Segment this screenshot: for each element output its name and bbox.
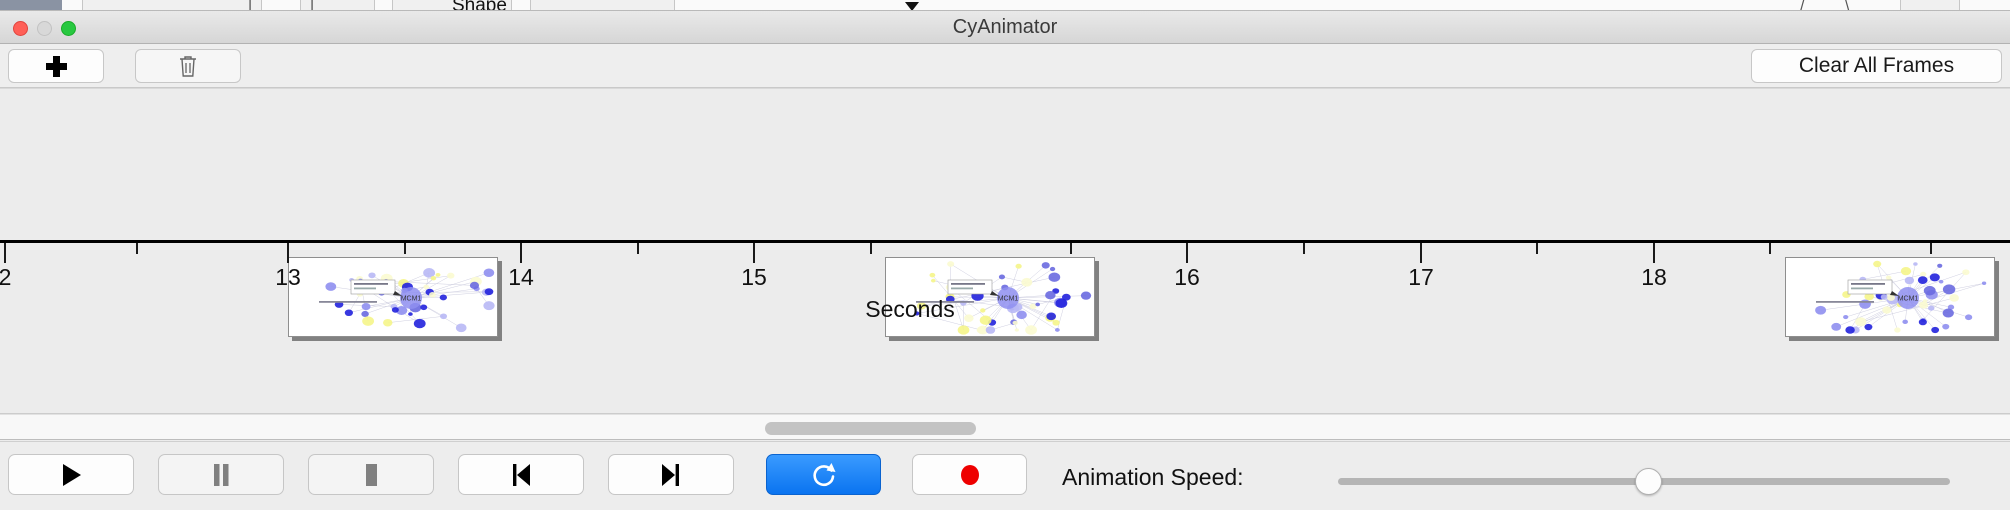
ruler-tick-major bbox=[287, 243, 289, 263]
timeline-panel[interactable]: MCM1MCM1MCM1 2131415161718 Seconds bbox=[0, 88, 2010, 414]
ruler-tick-minor bbox=[1536, 243, 1538, 254]
stop-icon bbox=[360, 462, 382, 488]
animation-speed-slider-thumb[interactable] bbox=[1635, 468, 1662, 495]
axis-title: Seconds bbox=[0, 296, 1820, 323]
play-button[interactable] bbox=[8, 454, 134, 495]
ruler-tick-minor bbox=[637, 243, 639, 254]
background-sidebar-sliver bbox=[0, 0, 62, 11]
background-toolbar-segment bbox=[530, 0, 675, 11]
add-frame-button[interactable] bbox=[8, 49, 104, 83]
plus-icon bbox=[46, 56, 67, 77]
skip-forward-icon bbox=[659, 462, 683, 488]
background-window-label: Shape bbox=[452, 0, 507, 11]
panel-divider bbox=[0, 88, 2010, 89]
ruler-tick-label: 18 bbox=[1641, 264, 1667, 291]
prev-frame-button[interactable] bbox=[458, 454, 584, 495]
svg-text:MCM1: MCM1 bbox=[1898, 296, 1919, 303]
timeline-scrollbar[interactable] bbox=[0, 414, 2010, 440]
next-frame-button[interactable] bbox=[608, 454, 734, 495]
loop-button[interactable] bbox=[766, 454, 881, 495]
ruler-tick-major bbox=[1420, 243, 1422, 263]
timeline-ruler-line bbox=[0, 240, 2010, 243]
record-icon bbox=[958, 462, 982, 488]
ruler-tick-major bbox=[4, 243, 6, 263]
ruler-tick-label: 16 bbox=[1174, 264, 1200, 291]
ruler-tick-major bbox=[1653, 243, 1655, 263]
ruler-tick-label: 14 bbox=[508, 264, 534, 291]
ruler-tick-label: 15 bbox=[741, 264, 767, 291]
ruler-tick-minor bbox=[136, 243, 138, 254]
transport-bar: Animation Speed: bbox=[0, 441, 2010, 510]
animation-speed-label: Animation Speed: bbox=[1062, 464, 1244, 491]
ruler-tick-minor bbox=[870, 243, 872, 254]
ruler-tick-label: 13 bbox=[275, 264, 301, 291]
background-toolbar-segment bbox=[1900, 0, 1960, 11]
record-button[interactable] bbox=[912, 454, 1027, 495]
trash-icon bbox=[178, 54, 198, 78]
ruler-tick-label: 17 bbox=[1408, 264, 1434, 291]
pause-button[interactable] bbox=[158, 454, 284, 495]
timeline-scrollbar-thumb[interactable] bbox=[765, 422, 976, 435]
loop-icon bbox=[811, 461, 837, 489]
clear-all-frames-button[interactable]: Clear All Frames bbox=[1751, 49, 2002, 83]
title-bar[interactable]: CyAnimator bbox=[0, 11, 2010, 44]
ruler-tick-major bbox=[1186, 243, 1188, 263]
ruler-tick-minor bbox=[1303, 243, 1305, 254]
window-title: CyAnimator bbox=[0, 11, 2010, 44]
background-toolbar-segment bbox=[82, 0, 262, 11]
pause-icon bbox=[210, 462, 232, 488]
ruler-tick-major bbox=[753, 243, 755, 263]
background-cursor-icon bbox=[905, 2, 919, 11]
ruler-tick-label: 2 bbox=[0, 264, 11, 291]
ruler-tick-minor bbox=[1070, 243, 1072, 254]
ruler-tick-major bbox=[520, 243, 522, 263]
background-window-strip: | | Shape / \ bbox=[0, 0, 2010, 11]
delete-frame-button[interactable] bbox=[135, 49, 241, 83]
toolbar: Clear All Frames bbox=[0, 44, 2010, 88]
ruler-tick-minor bbox=[1930, 243, 1932, 254]
stop-button[interactable] bbox=[308, 454, 434, 495]
ruler-tick-minor bbox=[404, 243, 406, 254]
play-icon bbox=[59, 462, 83, 488]
skip-back-icon bbox=[509, 462, 533, 488]
cyanimator-window: | | Shape / \ CyAnimator Clear All Frame… bbox=[0, 0, 2010, 510]
ruler-tick-minor bbox=[1769, 243, 1771, 254]
